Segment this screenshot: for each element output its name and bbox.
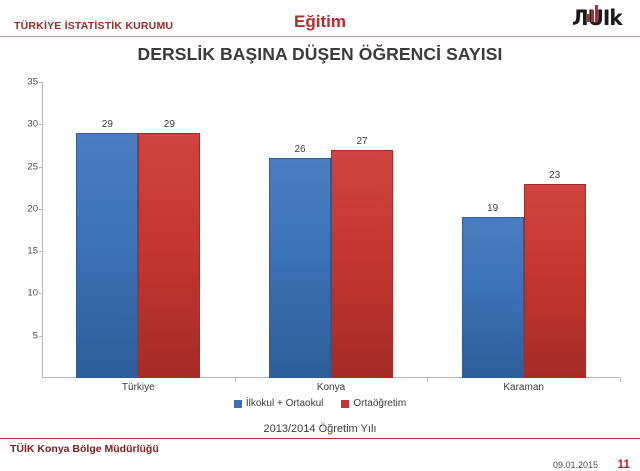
- footer-page-number: 11: [617, 457, 630, 471]
- y-axis-tick-mark: [39, 82, 43, 83]
- header-divider: [0, 36, 640, 37]
- bar-value-label: 27: [332, 136, 392, 147]
- slide-header: TÜRKİYE İSTATİSTİK KURUMU Eğitim ЛUIk: [0, 0, 640, 38]
- legend-label: İlkokul + Ortaokul: [246, 398, 324, 409]
- bar-pair: 2627: [269, 82, 393, 378]
- slide-topic-title: Eğitim: [0, 12, 640, 32]
- tuik-logo-bars-icon: [587, 5, 598, 22]
- y-axis-tick-label: 10: [0, 288, 38, 299]
- y-axis-tick-mark: [39, 124, 43, 125]
- legend-label: Ortaöğretim: [353, 398, 406, 409]
- footer-divider: [0, 438, 640, 439]
- bar-pair: 2929: [76, 82, 200, 378]
- footer-date: 09.01.2015: [553, 460, 598, 470]
- bar-value-label: 29: [77, 119, 137, 130]
- bar-konya-series-2[interactable]: 27: [331, 150, 393, 378]
- bar-value-label: 23: [525, 170, 585, 181]
- bar-chart: 3530252015105 2929Türkiye2627Konya1923Ka…: [0, 70, 640, 392]
- legend-color-swatch: [234, 400, 242, 408]
- y-axis-tick-mark: [39, 251, 43, 252]
- school-year-caption: 2013/2014 Öğretim Yılı: [0, 423, 640, 435]
- y-axis-tick-label: 30: [0, 119, 38, 130]
- y-axis-tick-label: 25: [0, 161, 38, 172]
- x-axis-tick-mark: [620, 378, 621, 382]
- y-axis-tick-label: 5: [0, 330, 38, 341]
- legend-item-1[interactable]: İlkokul + Ortaokul: [234, 398, 324, 409]
- x-axis-category-label: Karaman: [462, 382, 586, 393]
- y-axis-tick-label: 35: [0, 77, 38, 88]
- y-axis-line: [42, 82, 43, 378]
- x-axis-category-label: Konya: [269, 382, 393, 393]
- y-axis-tick-label: 15: [0, 246, 38, 257]
- bar-value-label: 29: [139, 119, 199, 130]
- x-axis-tick-mark: [235, 378, 236, 382]
- bar-türkiye-series-1[interactable]: 29: [76, 133, 138, 378]
- x-axis-tick-mark: [427, 378, 428, 382]
- bar-karaman-series-2[interactable]: 23: [524, 184, 586, 379]
- x-axis-category-label: Türkiye: [76, 382, 200, 393]
- chart-legend: İlkokul + OrtaokulOrtaöğretim: [0, 398, 640, 409]
- y-axis-tick-mark: [39, 209, 43, 210]
- y-axis-tick-mark: [39, 167, 43, 168]
- bar-konya-series-1[interactable]: 26: [269, 158, 331, 378]
- bar-value-label: 26: [270, 144, 330, 155]
- legend-item-2[interactable]: Ortaöğretim: [341, 398, 406, 409]
- bar-pair: 1923: [462, 82, 586, 378]
- y-axis-tick-label: 20: [0, 203, 38, 214]
- bar-türkiye-series-2[interactable]: 29: [138, 133, 200, 378]
- y-axis-tick-mark: [39, 293, 43, 294]
- legend-color-swatch: [341, 400, 349, 408]
- bar-value-label: 19: [463, 203, 523, 214]
- footer-organization: TÜİK Konya Bölge Müdürlüğü: [10, 443, 159, 455]
- chart-title: DERSLİK BAŞINA DÜŞEN ÖĞRENCİ SAYISI: [0, 44, 640, 65]
- bar-karaman-series-1[interactable]: 19: [462, 217, 524, 378]
- tuik-logo: ЛUIk: [572, 4, 630, 30]
- slide-canvas: TÜRKİYE İSTATİSTİK KURUMU Eğitim ЛUIk DE…: [0, 0, 640, 471]
- y-axis-tick-mark: [39, 336, 43, 337]
